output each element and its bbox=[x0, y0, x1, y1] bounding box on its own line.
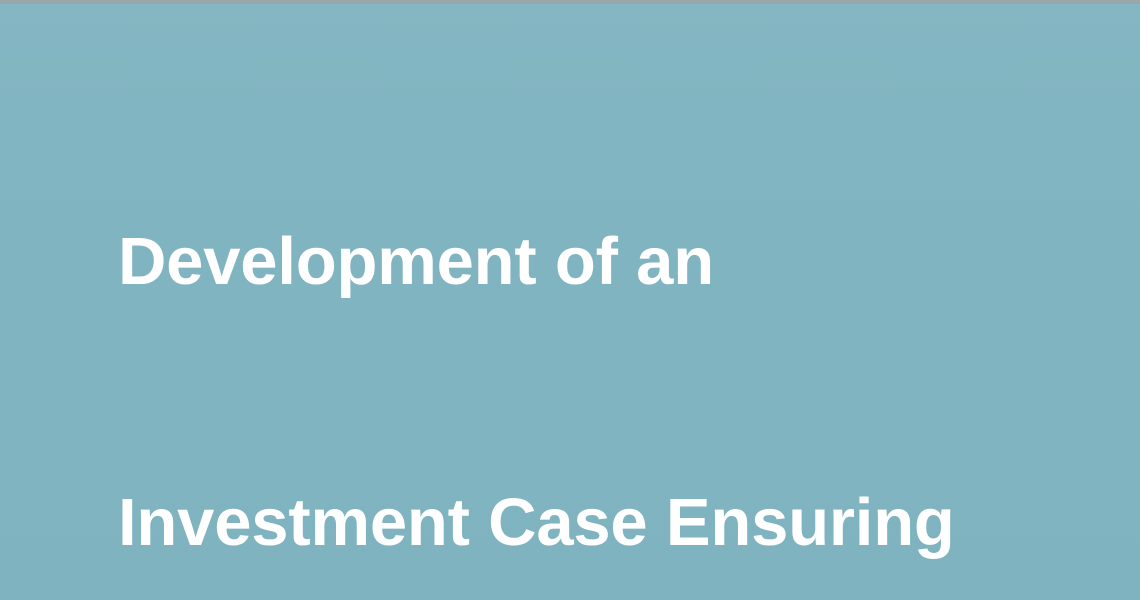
top-edge-strip bbox=[0, 0, 1140, 4]
page-title-line-2: Investment Case Ensuring bbox=[118, 479, 1018, 566]
hero-content: Development of an Investment Case Ensuri… bbox=[0, 0, 1140, 600]
page-title-line-1: Development of an bbox=[118, 218, 1018, 305]
page-title: Development of an Investment Case Ensuri… bbox=[118, 44, 1018, 600]
page-viewport: Development of an Investment Case Ensuri… bbox=[0, 0, 1140, 600]
